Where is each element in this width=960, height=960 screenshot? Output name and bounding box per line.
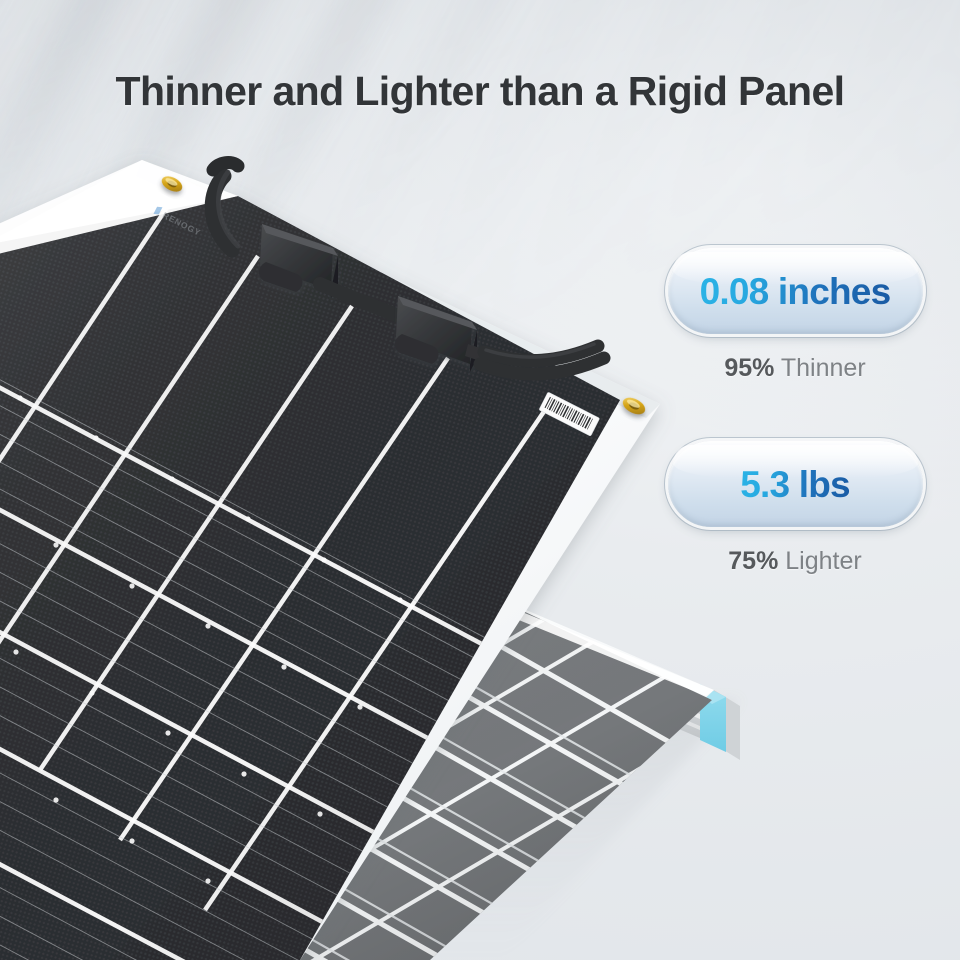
weight-badge-value: 5.3 lbs [740, 466, 850, 503]
scene: RENOGY [0, 0, 960, 960]
weight-caption: 75% Lighter [645, 549, 945, 574]
weight-badge: 5.3 lbs [668, 441, 923, 527]
spec-thickness: 0.08 inches 95% Thinner [645, 248, 945, 381]
weight-percent: 75% [728, 547, 778, 575]
thickness-caption: 95% Thinner [645, 356, 945, 381]
page-title: Thinner and Lighter than a Rigid Panel [0, 68, 960, 115]
spec-list: 0.08 inches 95% Thinner 5.3 lbs 75% Ligh… [645, 248, 945, 574]
spec-weight: 5.3 lbs 75% Lighter [645, 441, 945, 574]
thickness-word: Thinner [774, 354, 865, 382]
thickness-badge: 0.08 inches [668, 248, 923, 334]
thickness-percent: 95% [724, 354, 774, 382]
thickness-badge-value: 0.08 inches [700, 273, 891, 310]
weight-word: Lighter [778, 547, 861, 575]
